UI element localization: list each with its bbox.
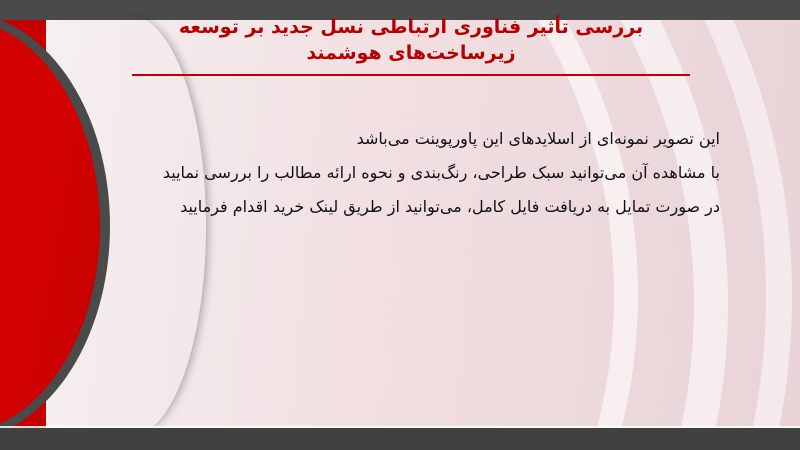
left-strip-top-cap: [0, 0, 46, 20]
presentation-slide: بررسی تأثیر فناوری ارتباطی نسل جدید بر ت…: [0, 0, 800, 450]
title-underline-rule: [132, 74, 690, 76]
body-line-2: با مشاهده آن می‌توانید سبک طراحی، رنگ‌بن…: [120, 156, 720, 190]
bottom-frame-band: [0, 428, 800, 450]
background-arc-pattern: [0, 0, 800, 450]
left-red-ellipse-group: [0, 12, 110, 440]
body-line-3: در صورت تمایل به دریافت فایل کامل، می‌تو…: [120, 190, 720, 224]
slide-title: بررسی تأثیر فناوری ارتباطی نسل جدید بر ت…: [128, 14, 694, 66]
body-line-1: این تصویر نمونه‌ای از اسلایدهای این پاور…: [120, 122, 720, 156]
title-line-1: بررسی تأثیر فناوری ارتباطی نسل جدید بر ت…: [128, 14, 694, 40]
title-line-2: زیرساخت‌های هوشمند: [128, 40, 694, 66]
red-ellipse-fill: [0, 18, 100, 434]
slide-body-text: این تصویر نمونه‌ای از اسلایدهای این پاور…: [120, 122, 720, 224]
